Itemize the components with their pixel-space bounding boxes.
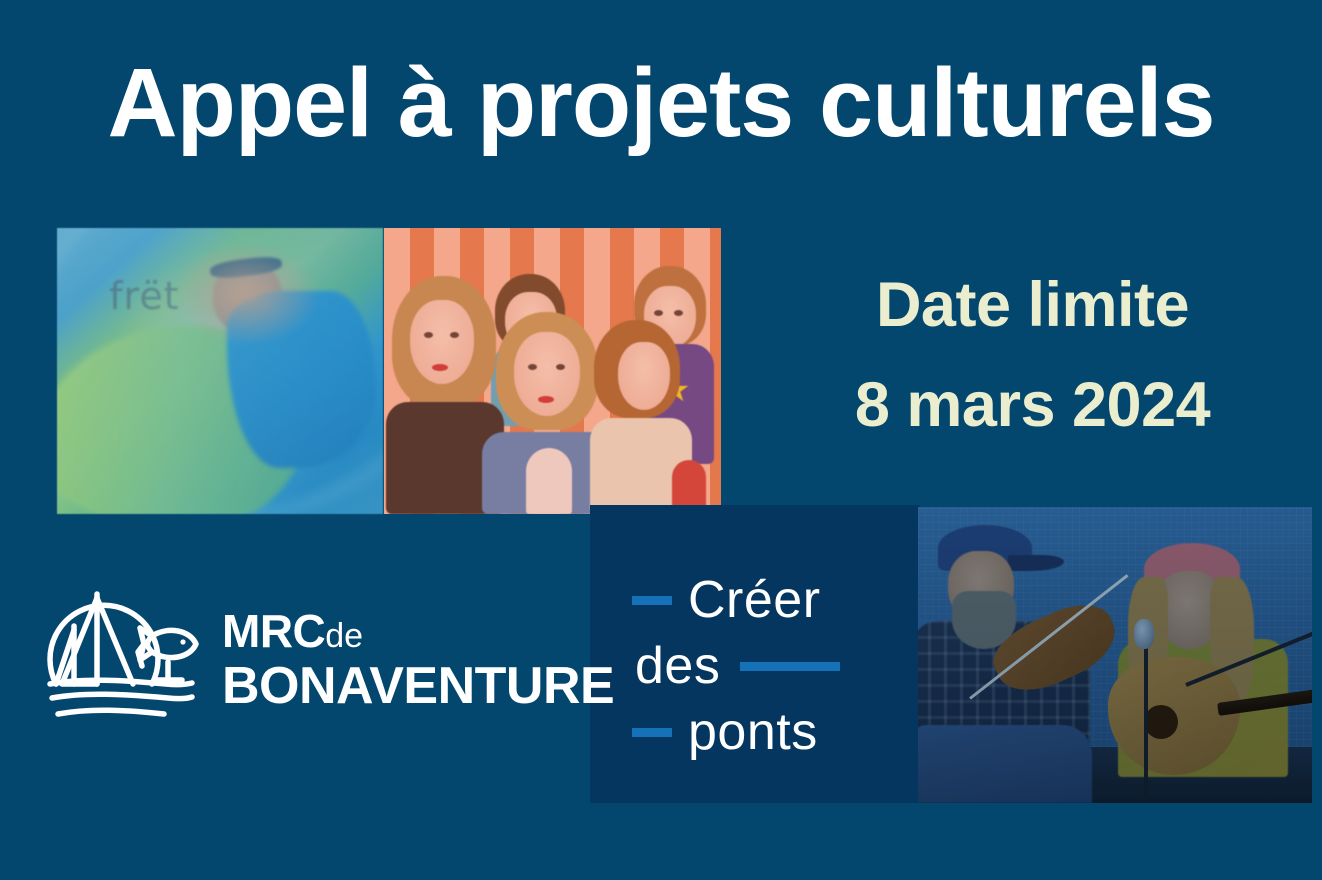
mrc-line-one: MRCde	[222, 608, 614, 654]
dancer-blue-wash	[57, 228, 383, 514]
deadline-label: Date limite	[760, 256, 1305, 356]
dash-icon	[740, 662, 840, 671]
bonaventure-word: BONAVENTURE	[222, 660, 614, 712]
mrc-wordmark: MRCde BONAVENTURE	[222, 608, 614, 712]
creer-word: Créer	[688, 569, 821, 631]
creer-des-ponts-logo: Créer des ponts	[590, 505, 920, 803]
mrc-de-word: de	[325, 617, 363, 655]
deadline-date: 8 mars 2024	[760, 356, 1305, 456]
dash-icon	[632, 728, 672, 737]
creer-des-ponts-lines: Créer des ponts	[590, 567, 920, 765]
mrc-bonaventure-logo: MRCde BONAVENTURE	[40, 575, 570, 745]
creer-row: Créer	[590, 567, 920, 633]
poster-canvas: Appel à projets culturels frët ★	[0, 0, 1322, 880]
deadline-block: Date limite 8 mars 2024	[760, 256, 1305, 455]
ponts-row: ponts	[590, 699, 920, 765]
musicians-duo-photo	[918, 507, 1312, 803]
ponts-word: ponts	[688, 701, 818, 763]
des-word: des	[635, 635, 720, 697]
mrc-acronym: MRC	[222, 605, 325, 657]
kids-photo-tint	[384, 228, 721, 514]
page-title: Appel à projets culturels	[0, 52, 1322, 154]
young-dancers-photo: ★	[384, 228, 721, 514]
musicians-photo-tint	[918, 507, 1312, 803]
des-row: des	[590, 633, 920, 699]
mrc-bonaventure-emblem	[40, 580, 206, 740]
blurred-dancer-photo: frët	[57, 228, 383, 514]
dash-icon	[632, 596, 672, 605]
